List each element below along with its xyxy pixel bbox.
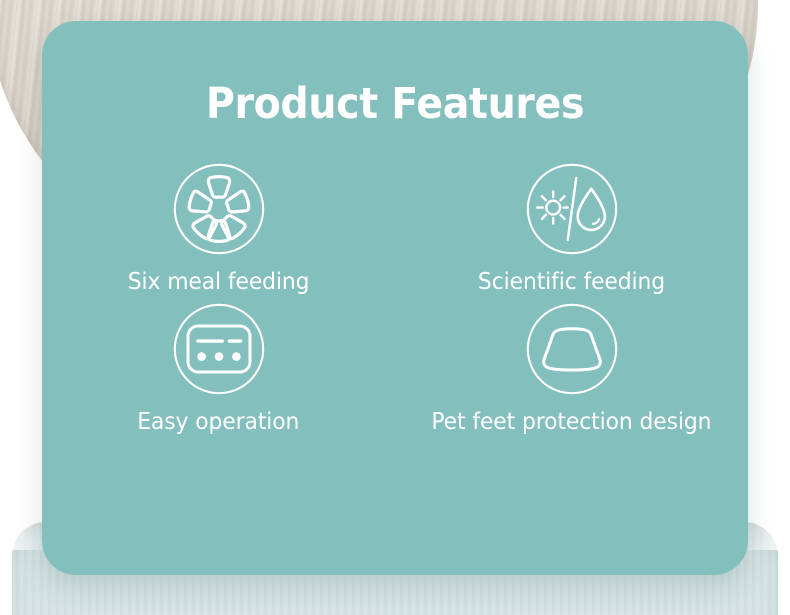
feature-item-pet-feet-protection: Pet feet protection design [395, 302, 748, 435]
features-grid: Six meal feeding [42, 162, 748, 436]
feature-label: Scientific feeding [478, 270, 665, 295]
feature-label: Easy operation [137, 410, 299, 435]
product-features-card: Product Features Six meal feeding [42, 21, 748, 575]
feature-item-six-meal-feeding: Six meal feeding [42, 162, 395, 295]
sun-and-water-drop-icon [525, 162, 619, 256]
feature-item-easy-operation: Easy operation [42, 302, 395, 435]
feature-label: Six meal feeding [128, 270, 310, 295]
paw-pad-icon [525, 302, 619, 396]
page-title: Product Features [70, 21, 720, 126]
feature-label: Pet feet protection design [431, 410, 711, 435]
six-compartment-tray-icon [172, 162, 266, 256]
feature-item-scientific-feeding: Scientific feeding [395, 162, 748, 295]
control-panel-icon [172, 302, 266, 396]
